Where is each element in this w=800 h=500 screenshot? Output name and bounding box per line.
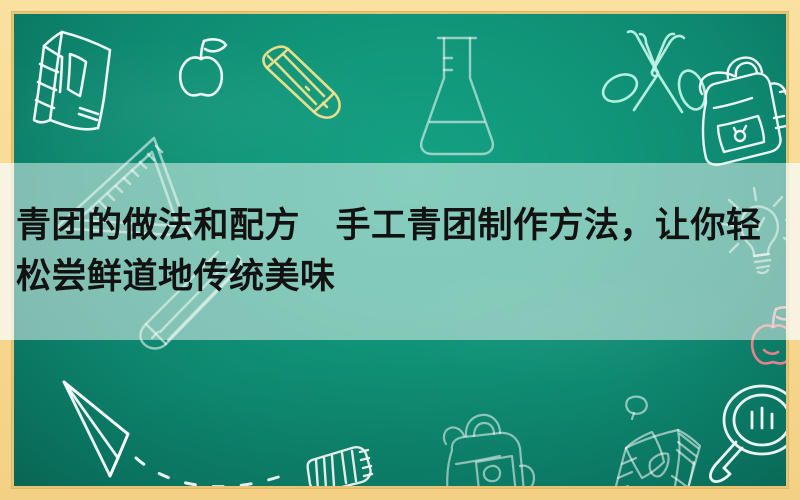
backpack-secondary-icon [432, 406, 552, 486]
magnifier-icon [704, 382, 786, 486]
page-title: 青团的做法和配方 手工青团制作方法，让你轻松尝鲜道地传统美味 [16, 201, 784, 303]
backpack-icon [684, 42, 786, 182]
speech-bubble-icon [622, 392, 656, 424]
book-icon [18, 16, 143, 141]
dotted-trail-icon [132, 444, 322, 486]
book-secondary-icon [600, 406, 720, 486]
eraser-icon [304, 444, 374, 486]
banner-image: 青团的做法和配方 手工青团制作方法，让你轻松尝鲜道地传统美味 [0, 0, 800, 500]
title-container: 青团的做法和配方 手工青团制作方法，让你轻松尝鲜道地传统美味 [0, 163, 800, 340]
apple-icon [162, 30, 242, 105]
beaker-icon [408, 30, 508, 160]
pencil-icon [254, 44, 364, 139]
